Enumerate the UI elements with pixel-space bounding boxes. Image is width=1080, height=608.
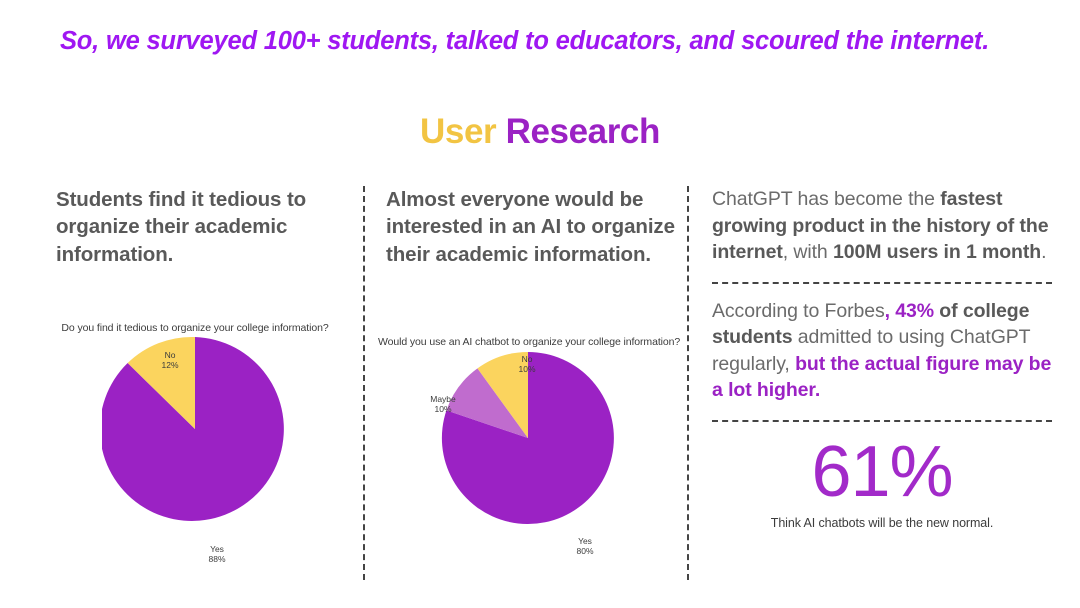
stat-new-normal: 61% Think AI chatbots will be the new no…: [712, 436, 1052, 530]
chart-middle-plot-area: No 10% Maybe 10% Yes 80%: [378, 350, 678, 526]
stat-number: 61%: [712, 436, 1052, 508]
horizontal-divider-2: [712, 420, 1052, 422]
column-middle-heading: Almost everyone would be interested in a…: [386, 186, 676, 268]
chart-middle-label-yes-name: Yes: [578, 536, 592, 546]
column-left-heading: Students find it tedious to organize the…: [56, 186, 346, 268]
chart-left-label-no: No 12%: [148, 350, 192, 371]
chart-middle-label-no-name: No: [522, 354, 533, 364]
chart-left-label-yes: Yes 88%: [195, 544, 239, 565]
column-middle: Almost everyone would be interested in a…: [386, 186, 676, 268]
fact-1-part-4: 100M users in 1 month: [833, 241, 1041, 263]
chart-middle-label-yes: Yes 80%: [564, 536, 606, 557]
chart-middle-label-yes-value: 80%: [564, 546, 606, 556]
chart-middle-svg: [440, 350, 616, 526]
fact-2-part-1: According to Forbes: [712, 300, 885, 322]
fact-forbes-statistic: According to Forbes, 43% of college stud…: [712, 298, 1052, 404]
fact-1-part-5: .: [1041, 241, 1046, 263]
chart-left-caption: Do you find it tedious to organize your …: [40, 322, 350, 334]
pie-chart-tedious-to-organize: Do you find it tedious to organize your …: [40, 322, 350, 522]
fact-chatgpt-growth: ChatGPT has become the fastest growing p…: [712, 186, 1052, 266]
chart-left-svg: [102, 336, 288, 522]
chart-middle-label-no-value: 10%: [506, 364, 548, 374]
vertical-divider-right: [687, 186, 689, 580]
pie-chart-would-use-ai-chatbot: Would you use an AI chatbot to organize …: [378, 336, 678, 526]
chart-left-label-yes-value: 88%: [195, 554, 239, 564]
chart-middle-label-maybe-name: Maybe: [430, 394, 456, 404]
fact-1-part-1: ChatGPT has become the: [712, 188, 940, 210]
chart-left-plot-area: No 12% Yes 88%: [40, 336, 350, 522]
column-left: Students find it tedious to organize the…: [56, 186, 346, 268]
chart-middle-label-no: No 10%: [506, 354, 548, 375]
chart-left-label-no-name: No: [165, 350, 176, 360]
chart-left-label-yes-name: Yes: [210, 544, 224, 554]
chart-left-label-no-value: 12%: [148, 360, 192, 370]
page-title: User Research: [0, 112, 1080, 152]
title-word-user: User: [420, 112, 496, 151]
chart-middle-label-maybe-value: 10%: [420, 404, 466, 414]
stat-caption: Think AI chatbots will be the new normal…: [712, 516, 1052, 530]
horizontal-divider-1: [712, 282, 1052, 284]
fact-2-part-2: , 43%: [885, 300, 934, 322]
fact-1-part-3: , with: [783, 241, 833, 263]
chart-middle-label-maybe: Maybe 10%: [420, 394, 466, 415]
vertical-divider-left: [363, 186, 365, 580]
column-right: ChatGPT has become the fastest growing p…: [712, 186, 1052, 530]
intro-statement: So, we surveyed 100+ students, talked to…: [60, 24, 1020, 58]
title-word-research: Research: [506, 112, 660, 151]
chart-middle-caption: Would you use an AI chatbot to organize …: [378, 336, 678, 348]
